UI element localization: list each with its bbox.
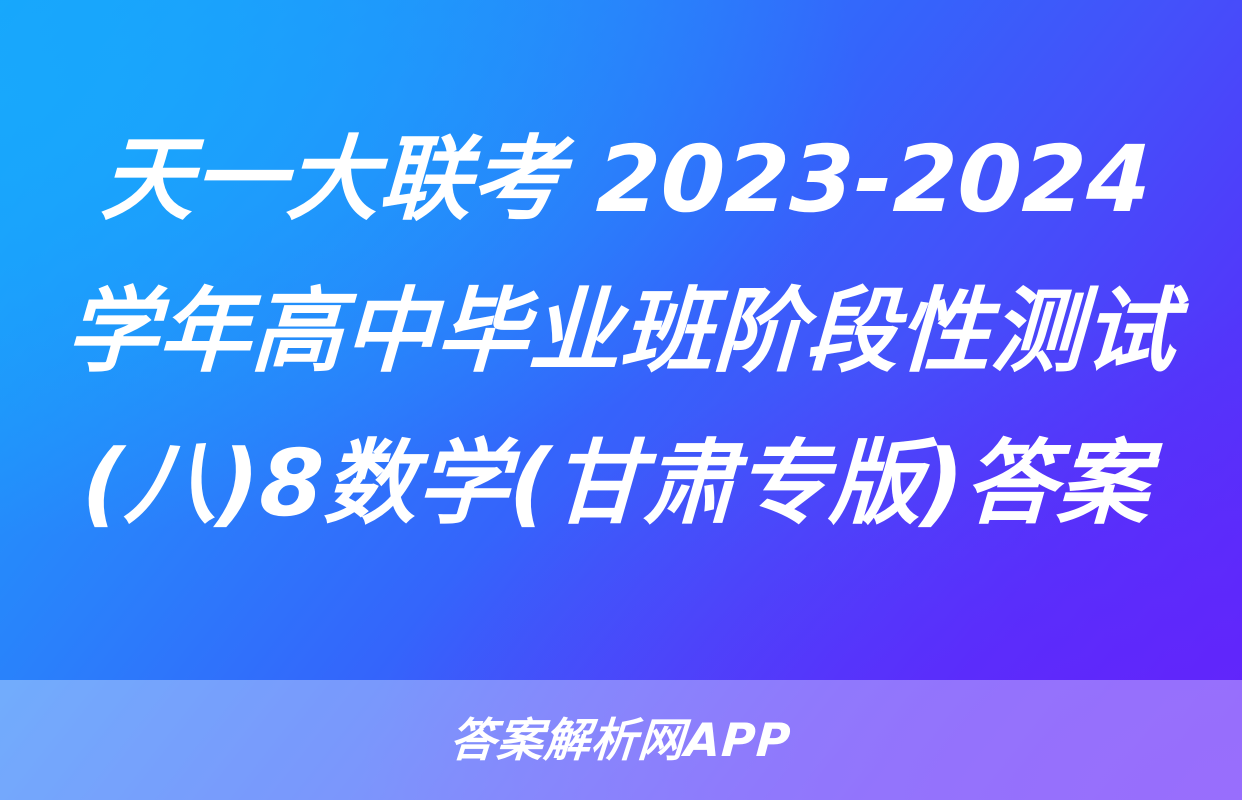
app-brand-label: 答案解析网APP bbox=[449, 717, 793, 763]
app-watermark-band: 答案解析网APP bbox=[0, 680, 1242, 800]
title-block: 天一大联考 2023-2024学年高中毕业班阶段性测试(八)8数学(甘肃专版)答… bbox=[0, 104, 1242, 560]
page-title: 天一大联考 2023-2024学年高中毕业班阶段性测试(八)8数学(甘肃专版)答… bbox=[44, 104, 1198, 560]
answer-cover-card: 天一大联考 2023-2024学年高中毕业班阶段性测试(八)8数学(甘肃专版)答… bbox=[0, 0, 1242, 800]
